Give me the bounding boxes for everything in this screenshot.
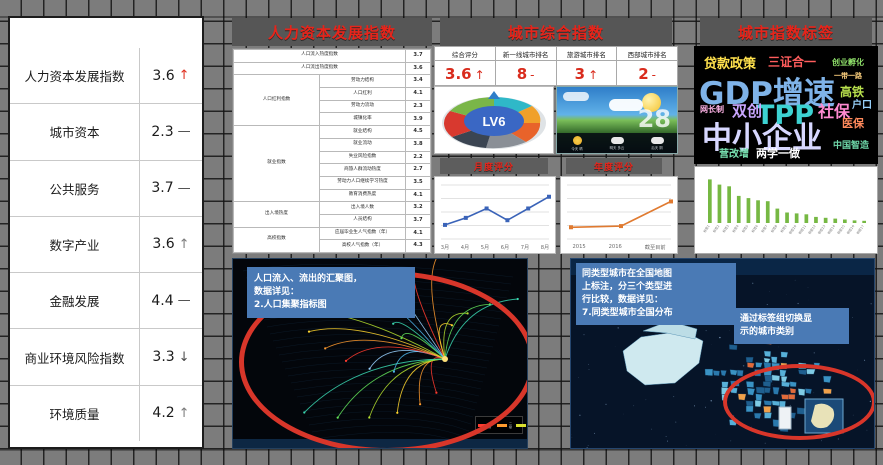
bar-category-label: 标签7 (760, 224, 769, 234)
x-tick-label: 4月 (461, 244, 470, 251)
map-cell (781, 352, 788, 358)
bar (737, 196, 741, 223)
dimension-label: 公共服务 (10, 161, 139, 216)
bar-category-label: 标签15 (836, 224, 846, 235)
bar-category-label: 标签1 (702, 224, 711, 234)
dimension-value: 3.6 (152, 68, 174, 84)
bar (862, 221, 866, 223)
index-group-label: 就业指数 (234, 126, 320, 202)
bar (833, 219, 837, 223)
similar-city-distribution-map-panel[interactable]: 同类型城市在全国地图上标注，分三个类型进行比较，数据详见：7.同类型城市全国分布… (570, 258, 875, 449)
map-cell (730, 370, 738, 376)
forecast-cell: 今天 晴 (557, 133, 597, 153)
dimension-value-cell: 4.2↑ (139, 386, 202, 441)
line-chart-svg (561, 177, 677, 253)
forecast-cell: 明天 多云 (597, 133, 637, 153)
index-sub-label: 劳动力流动 (320, 100, 406, 113)
kpi-value: 8 (517, 65, 527, 83)
table-row[interactable]: 高校指数应届毕业生人气指数（年）4.1 (234, 227, 431, 240)
note-line: 数据详见： (254, 286, 408, 299)
human-capital-index-panel: 人口流入热度指数3.7人口流出热度指数3.6人口红利指数劳动力结构3.4人口红利… (232, 48, 432, 254)
index-sub-label: 劳动力结构 (320, 75, 406, 88)
index-sub-label: 就业流动 (320, 138, 406, 151)
population-flow-map-panel[interactable]: 一级 高二级三级四级五级 低 人口流入、流出的汇聚图，数据详见：2.人口集聚指标… (232, 258, 528, 449)
index-sub-label: 人员结构 (320, 214, 406, 227)
table-row[interactable]: 公共服务3.7— (10, 160, 202, 216)
kpi-trend-icon: ↑ (475, 68, 485, 82)
x-tick-label: 2016 (609, 244, 622, 251)
dimension-label: 人力资本发展指数 (10, 48, 139, 103)
dimension-value-cell: 3.6↑ (139, 217, 202, 272)
x-tick-label: 8月 (541, 244, 550, 251)
human-capital-table: 人口流入热度指数3.7人口流出热度指数3.6人口红利指数劳动力结构3.4人口红利… (233, 49, 431, 253)
bar-category-label: 标签12 (807, 224, 817, 235)
map-cell (729, 345, 737, 350)
bar-category-label: 标签10 (787, 224, 797, 235)
map-cell (705, 369, 713, 376)
index-sub-label: 出入境人数 (320, 202, 406, 215)
dimension-label: 城市资本 (10, 104, 139, 159)
wheel-center-label: LV6 (483, 114, 506, 129)
data-point (669, 199, 673, 203)
dimension-value-cell: 3.7— (139, 161, 202, 216)
table-row[interactable]: 出入境热度出入境人数3.2 (234, 202, 431, 215)
panel2-title: 人力资本发展指数 (232, 18, 432, 46)
index-value: 3.5 (406, 176, 431, 189)
index-value: 2.7 (406, 164, 431, 177)
chengdu-seven-dimension-index-panel: 人力资本发展指数3.6↑城市资本2.3—公共服务3.7—数字产业3.6↑金融发展… (8, 16, 204, 449)
bar (747, 198, 751, 223)
word-cloud-term[interactable]: 一带一路 (834, 73, 862, 80)
table-row[interactable]: 商业环境风险指数3.3↓ (10, 328, 202, 384)
panel3-title: 城市综合指数 (440, 18, 672, 46)
table-row[interactable]: 人口流出热度指数3.6 (234, 62, 431, 75)
bar-category-label: 标签13 (816, 224, 826, 235)
bar (708, 179, 712, 223)
bar (727, 186, 731, 223)
legend-item: 二级 (497, 421, 514, 429)
data-point (547, 195, 551, 199)
bar-category-label: 标签8 (769, 224, 778, 234)
table-row[interactable]: 人口红利指数劳动力结构3.4 (234, 75, 431, 88)
kpi-trend-icon: ↑ (588, 68, 598, 82)
bar-category-label: 标签3 (721, 224, 730, 234)
level-wheel-chart: LV6 (434, 86, 554, 154)
trend-down-icon: ↓ (179, 351, 190, 364)
index-sub-label: 就业结构 (320, 126, 406, 139)
kpi-label: 旅游城市排名 (556, 47, 617, 61)
level-wheel-svg: LV6 (438, 89, 550, 151)
legend-label: 二级 (509, 421, 514, 429)
x-tick-label: 截至目前 (645, 244, 666, 251)
index-value: 3.7 (406, 50, 431, 63)
legend-item: 三级 (516, 421, 528, 429)
legend-swatch (497, 424, 507, 427)
bar-category-label: 标签11 (797, 224, 807, 235)
bar-category-label: 标签2 (711, 224, 720, 234)
map-cell (756, 362, 763, 367)
yearly-score-subtitle: 年度评分 (566, 158, 662, 174)
bar (718, 185, 722, 223)
index-group-label: 人口红利指数 (234, 75, 320, 126)
city-index-word-cloud: GDP增速中小企业TPP贷款政策三证合一创业孵化双创社保户口医保高铁两学一做营改… (694, 46, 878, 164)
bar-category-label: 标签16 (845, 224, 855, 235)
word-cloud-term[interactable]: 两学一做 (756, 148, 800, 159)
table-row[interactable]: 金融发展4.4— (10, 272, 202, 328)
index-sub-label: 高校人气指数（年） (320, 240, 406, 253)
forecast-label: 后天 阴 (651, 145, 662, 150)
word-cloud-term[interactable]: 网长制 (700, 106, 724, 114)
index-value: 3.6 (406, 62, 431, 75)
monthly-score-subtitle: 月度评分 (440, 158, 548, 174)
table-row[interactable]: 人口流入热度指数3.7 (234, 50, 431, 63)
x-tick-label: 3月 (441, 244, 450, 251)
annotation-note-similar-cities: 同类型城市在全国地图上标注，分三个类型进行比较，数据详见：7.同类型城市全国分布 (576, 263, 736, 325)
map-cell (713, 370, 720, 375)
bar (756, 200, 760, 223)
trend-flat-icon: — (178, 182, 191, 195)
index-sub-label: 失业风险指数 (320, 151, 406, 164)
index-value: 4.3 (406, 240, 431, 253)
index-sub-label: 教育消费热度 (320, 189, 406, 202)
data-point (526, 206, 530, 210)
line-chart-svg (435, 177, 555, 253)
city-composite-kpi-table: 综合评分新一线城市排名旅游城市排名西部城市排名3.6↑8-3↑2- (434, 46, 678, 86)
dimension-value-cell: 3.3↓ (139, 329, 202, 384)
index-sub-label: 人口流出热度指数 (234, 62, 406, 75)
word-cloud-term[interactable]: TPP (756, 102, 814, 129)
bar-category-label: 标签5 (740, 224, 749, 234)
word-cloud-term[interactable]: 创业孵化 (832, 59, 864, 67)
cloud-icon (563, 92, 589, 101)
index-value: 2.2 (406, 151, 431, 164)
bar-category-label: 标签6 (750, 224, 759, 234)
note-line: 2.人口集聚指标图 (254, 299, 408, 312)
map-cell (722, 382, 729, 388)
bar (785, 213, 789, 224)
x-axis-labels: 3月4月5月6月7月8月 (435, 244, 555, 251)
index-sub-label: 商旅人群流动热度 (320, 164, 406, 177)
map-cell (746, 357, 753, 362)
data-point (485, 206, 489, 210)
sun-icon (573, 136, 582, 145)
data-point (443, 223, 447, 227)
forecast-label: 明天 多云 (610, 145, 625, 150)
table-row[interactable]: 数字产业3.6↑ (10, 216, 202, 272)
x-tick-label: 7月 (521, 244, 530, 251)
bar (805, 214, 809, 223)
word-cloud-term[interactable]: 户口 (852, 101, 872, 111)
dimension-value: 3.3 (152, 349, 174, 365)
x-tick-label: 5月 (481, 244, 490, 251)
cloud-icon (611, 137, 624, 144)
dimension-value: 3.7 (151, 180, 173, 196)
data-point (505, 218, 509, 222)
dimension-label: 商业环境风险指数 (10, 329, 139, 384)
series-line (571, 201, 671, 227)
word-cloud-term[interactable]: 中国智造 (833, 142, 869, 151)
weather-forecast-strip: 今天 晴明天 多云后天 阴 (557, 133, 677, 153)
note-line: 同类型城市在全国地图 (582, 268, 730, 281)
yearly-score-line-chart: 20152016截至目前 (560, 176, 678, 254)
dimension-value: 3.6 (152, 236, 174, 252)
x-tick-label: 2015 (572, 244, 585, 251)
index-value: 3.4 (406, 75, 431, 88)
data-point (619, 224, 623, 228)
word-cloud-term[interactable]: 三证合一 (768, 56, 816, 68)
kpi-value-cell: 3.6↑ (435, 61, 496, 86)
bar (795, 213, 799, 223)
bar-category-label: 标签14 (826, 224, 836, 235)
forecast-label: 今天 晴 (571, 146, 582, 151)
dimension-label: 金融发展 (10, 273, 139, 328)
data-point (569, 225, 573, 229)
weather-widget: 28 今天 晴明天 多云后天 阴 (556, 86, 678, 154)
index-value: 4.1 (406, 88, 431, 101)
index-value: 3.2 (406, 202, 431, 215)
table-row[interactable]: 人力资本发展指数3.6↑ (10, 48, 202, 103)
note-line: 上标注，分三个类型进 (582, 281, 730, 294)
index-sub-label: 应届毕业生人气指数（年） (320, 227, 406, 240)
table-row[interactable]: 环境质量4.2↑ (10, 385, 202, 441)
word-cloud-term[interactable]: 医保 (842, 118, 864, 129)
word-cloud-term[interactable]: 双创 (732, 104, 762, 119)
cloud-icon (651, 137, 664, 144)
map-cell (771, 357, 777, 364)
forecast-cell: 后天 阴 (637, 133, 677, 153)
index-sub-label: 人口红利 (320, 88, 406, 101)
dimension-value-cell: 2.3— (139, 104, 202, 159)
dimension-label: 环境质量 (10, 386, 139, 441)
series-line (445, 197, 549, 225)
kpi-label: 西部城市排名 (617, 47, 678, 61)
kpi-trend-icon: - (652, 68, 656, 82)
table-row[interactable]: 城市资本2.3— (10, 103, 202, 159)
word-cloud-term[interactable]: 营改增 (719, 150, 749, 160)
x-tick-label: 6月 (501, 244, 510, 251)
dimension-label: 数字产业 (10, 217, 139, 272)
highlight-ellipse (723, 364, 875, 440)
panel4-title: 城市指数标签 (700, 18, 872, 46)
index-value: 2.3 (406, 100, 431, 113)
bar-category-label: 标签9 (779, 224, 788, 234)
index-group-label: 出入境热度 (234, 202, 320, 227)
kpi-value-cell: 3↑ (556, 61, 617, 86)
annotation-note-tag-switch: 通过标签组切换显示的城市类别 (734, 308, 849, 344)
note-line: 示的城市类别 (740, 326, 843, 339)
bar (843, 220, 847, 224)
index-value: 3.8 (406, 138, 431, 151)
index-value: 4.1 (406, 189, 431, 202)
trend-up-icon: ↑ (179, 69, 190, 82)
index-value: 3.7 (406, 214, 431, 227)
index-value: 3.9 (406, 113, 431, 126)
table-row[interactable]: 就业指数就业结构4.5 (234, 126, 431, 139)
kpi-label: 新一线城市排名 (495, 47, 556, 61)
note-line: 通过标签组切换显 (740, 313, 843, 326)
kpi-value: 2 (638, 65, 648, 83)
map-cell (747, 362, 754, 368)
city-index-bar-chart: 标签1标签2标签3标签4标签5标签6标签7标签8标签9标签10标签11标签12标… (694, 166, 878, 254)
dimension-value-cell: 4.4— (139, 273, 202, 328)
seven-dimension-table: 人力资本发展指数3.6↑城市资本2.3—公共服务3.7—数字产业3.6↑金融发展… (10, 48, 202, 441)
bar-category-label: 标签17 (855, 224, 865, 235)
dimension-value: 2.3 (151, 124, 173, 140)
kpi-value-cell: 2- (617, 61, 678, 86)
index-value: 4.5 (406, 126, 431, 139)
index-group-label: 高校指数 (234, 227, 320, 252)
trend-flat-icon: — (178, 294, 191, 307)
index-sub-label: 城镇化率 (320, 113, 406, 126)
annotation-note-population-flow: 人口流入、流出的汇聚图，数据详见：2.人口集聚指标图 (247, 267, 415, 318)
kpi-trend-icon: - (530, 68, 534, 82)
trend-up-icon: ↑ (179, 238, 190, 251)
legend-swatch (516, 424, 526, 427)
kpi-value: 3.6 (445, 65, 472, 83)
kpi-value: 3 (575, 65, 585, 83)
bar-chart-svg: 标签1标签2标签3标签4标签5标签6标签7标签8标签9标签10标签11标签12标… (695, 167, 877, 253)
data-point (464, 216, 468, 220)
dimension-value-cell: 3.6↑ (139, 48, 202, 103)
dimension-value: 4.2 (152, 405, 174, 421)
dimension-value: 4.4 (151, 293, 173, 309)
temperature-value: 28 (638, 105, 671, 133)
index-sub-label: 人口流入热度指数 (234, 50, 406, 63)
bar (853, 220, 857, 223)
note-line: 7.同类型城市全国分布 (582, 307, 730, 320)
bar (814, 217, 818, 223)
monthly-score-line-chart: 3月4月5月6月7月8月 (434, 176, 556, 254)
note-line: 人口流入、流出的汇聚图， (254, 273, 408, 286)
kpi-label: 综合评分 (435, 47, 496, 61)
x-axis-labels: 20152016截至目前 (561, 244, 677, 251)
index-value: 4.1 (406, 227, 431, 240)
index-sub-label: 劳动力人口继续学习热度 (320, 176, 406, 189)
bar-category-label: 标签4 (731, 224, 740, 234)
word-cloud-term[interactable]: 贷款政策 (704, 58, 756, 71)
bar (824, 218, 828, 223)
note-line: 行比较，数据详见： (582, 294, 730, 307)
bar (766, 201, 770, 223)
trend-flat-icon: — (178, 125, 191, 138)
map-cell (764, 351, 771, 357)
word-cloud-term[interactable]: 高铁 (840, 86, 864, 98)
bar (776, 209, 780, 223)
trend-up-icon: ↑ (179, 407, 190, 420)
kpi-value-cell: 8- (495, 61, 556, 86)
